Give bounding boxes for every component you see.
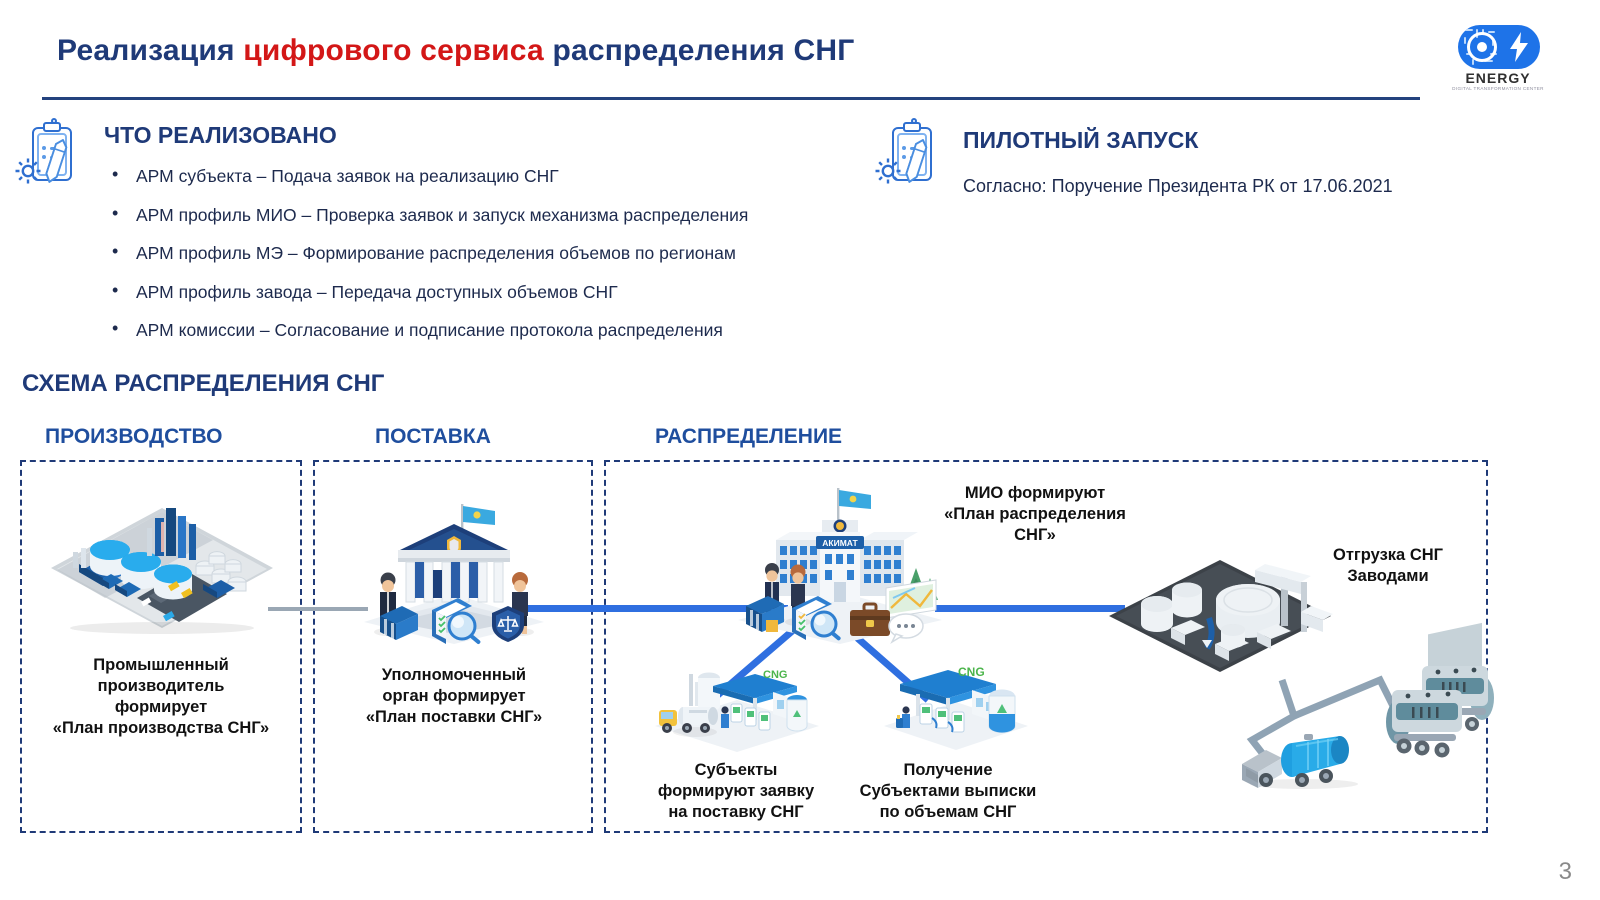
list-item: АРМ субъекта – Подача заявок на реализац… — [104, 166, 904, 186]
caption-line: «План поставки СНГ» — [318, 707, 590, 728]
industrial-plant-illustration — [45, 490, 280, 630]
clipboard-gear-icon-right — [872, 122, 942, 192]
list-item: АРМ комиссии – Согласование и подписание… — [104, 320, 904, 340]
caption-line: по объемам СНГ — [845, 802, 1051, 823]
list-item: АРМ профиль МИО – Проверка заявок и запу… — [104, 205, 904, 225]
title-part-2: распределения СНГ — [544, 34, 855, 67]
energy-logo: ENERGY DIGITAL TRANSFORMATION CENTER — [1438, 25, 1558, 97]
akimat-building-illustration: АКИМАТ — [730, 484, 950, 644]
caption-subjects: Субъекты формируют заявку на поставку СН… — [638, 760, 834, 823]
caption-line: МИО формируют — [930, 483, 1140, 504]
caption-production: Промышленный производитель формирует «Пл… — [22, 655, 300, 739]
gear-circle-icon — [1467, 32, 1497, 62]
connector-production-supply — [268, 607, 368, 611]
logo-wordmark: ENERGY — [1438, 70, 1558, 86]
cng-sign-left-text: CNG — [763, 669, 787, 681]
column-label-distribution: РАСПРЕДЕЛЕНИЕ — [655, 425, 842, 449]
caption-line: Субъектами выписки — [845, 781, 1051, 802]
page-title: Реализация цифрового сервиса распределен… — [57, 34, 854, 68]
caption-line: СНГ» — [930, 525, 1140, 546]
caption-line: Уполномоченный — [318, 665, 590, 686]
caption-receipt: Получение Субъектами выписки по объемам … — [845, 760, 1051, 823]
column-label-production: ПРОИЗВОДСТВО — [45, 425, 223, 449]
title-part-1: Реализация — [57, 34, 243, 67]
title-accent: цифрового сервиса — [243, 34, 544, 67]
list-item: АРМ профиль МЭ – Формирование распределе… — [104, 243, 904, 263]
title-divider — [42, 97, 1420, 100]
slide: Реализация цифрового сервиса распределен… — [0, 0, 1600, 900]
page-number: 3 — [1559, 858, 1572, 886]
caption-line: формируют заявку — [638, 781, 834, 802]
cng-sign-right-text: CNG — [958, 665, 985, 679]
caption-line: на поставку СНГ — [638, 802, 834, 823]
implemented-heading: ЧТО РЕАЛИЗОВАНО — [104, 122, 337, 149]
akimat-sign-text: АКИМАТ — [822, 538, 858, 548]
government-building-illustration — [358, 498, 550, 644]
lightning-bolt-icon — [1508, 32, 1530, 62]
caption-line: Получение — [845, 760, 1051, 781]
caption-line: Субъекты — [638, 760, 834, 781]
caption-line: формирует — [22, 697, 300, 718]
cng-station-right-illustration: CNG — [876, 648, 1036, 758]
caption-line: Заводами — [1288, 566, 1488, 587]
logo-tagline: DIGITAL TRANSFORMATION CENTER — [1438, 86, 1558, 91]
caption-shipment: Отгрузка СНГ Заводами — [1288, 545, 1488, 587]
caption-line: производитель — [22, 676, 300, 697]
pilot-heading: ПИЛОТНЫЙ ЗАПУСК — [963, 127, 1198, 154]
implemented-list: АРМ субъекта – Подача заявок на реализац… — [104, 166, 904, 359]
caption-line: «План производства СНГ» — [22, 718, 300, 739]
pilot-note: Согласно: Поручение Президента РК от 17.… — [963, 176, 1393, 197]
caption-mio: МИО формируют «План распределения СНГ» — [930, 483, 1140, 546]
cng-station-left-illustration: CNG — [645, 648, 825, 758]
transport-illustration — [1232, 638, 1522, 788]
column-label-supply: ПОСТАВКА — [375, 425, 491, 449]
list-item: АРМ профиль завода – Передача доступных … — [104, 282, 904, 302]
caption-supply: Уполномоченный орган формирует «План пос… — [318, 665, 590, 728]
clipboard-gear-icon-left — [12, 122, 82, 192]
caption-line: «План распределения — [930, 504, 1140, 525]
caption-line: Промышленный — [22, 655, 300, 676]
caption-line: Отгрузка СНГ — [1288, 545, 1488, 566]
caption-line: орган формирует — [318, 686, 590, 707]
scheme-heading: СХЕМА РАСПРЕДЕЛЕНИЯ СНГ — [22, 370, 384, 398]
logo-pill-icon — [1458, 25, 1540, 69]
